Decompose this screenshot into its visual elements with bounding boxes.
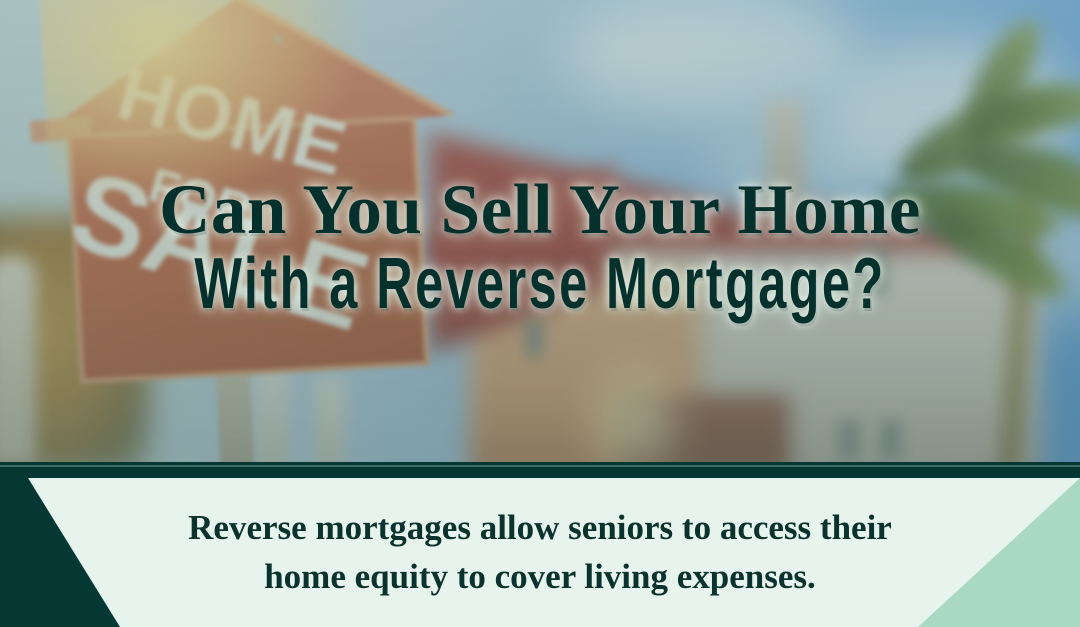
caption-text: Reverse mortgages allow seniors to acces… (0, 478, 1080, 627)
hero-background-photo: HOME FOR SALE (0, 0, 1080, 464)
divider-hairline (0, 465, 1080, 467)
article-hero-banner: HOME FOR SALE Can You Sell Your Home Wit… (0, 0, 1080, 627)
caption-line-1: Reverse mortgages allow seniors to acces… (188, 506, 892, 550)
section-divider-bar (0, 462, 1080, 478)
photo-haze-overlay (0, 0, 1080, 464)
caption-band: Reverse mortgages allow seniors to acces… (0, 478, 1080, 627)
caption-line-2: home equity to cover living expenses. (264, 555, 816, 599)
